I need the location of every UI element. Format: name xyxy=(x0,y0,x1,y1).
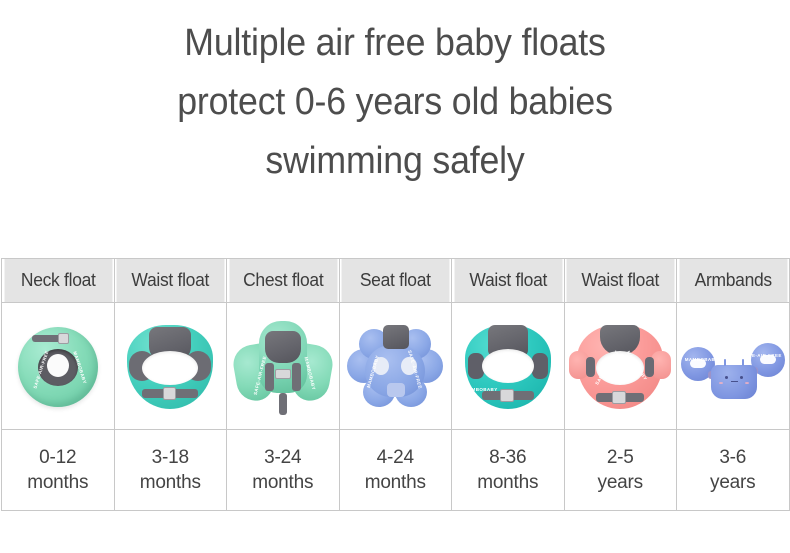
age-value: 8-36 xyxy=(452,445,564,470)
product-infographic: Multiple air free baby floats protect 0-… xyxy=(0,0,790,553)
product-image-waist-collar-float: MAMBOBABY xyxy=(456,307,560,425)
age-cell-waist-float-1: 3-18 months xyxy=(114,430,227,511)
age-unit: months xyxy=(2,470,114,495)
headline-line-1: Multiple air free baby floats xyxy=(24,14,767,73)
column-header-chest-float: Chest float xyxy=(228,259,337,303)
neck-ring-opening xyxy=(47,354,69,377)
chest-piece-ear-left xyxy=(724,359,726,366)
chest-piece-eye-left xyxy=(725,376,728,379)
collar-float-belt-buckle xyxy=(500,389,514,402)
age-value: 0-12 xyxy=(2,445,114,470)
column-header-waist-float-3: Waist float xyxy=(566,259,675,303)
column-header-waist-float-2: Waist float xyxy=(453,259,562,303)
age-cell-waist-float-2: 8-36 months xyxy=(452,430,565,511)
product-image-waist-collar-float-pink: SAFE-AIR-FREE MAMBOBABY xyxy=(568,307,672,425)
chest-float-buckle xyxy=(275,369,291,379)
armbands-chest-piece xyxy=(711,365,757,399)
brand-mark-right-band: SAFE-AIR-FREE xyxy=(742,353,782,358)
seat-float-front-panel xyxy=(387,383,405,397)
age-unit: months xyxy=(115,470,227,495)
chest-float-back-pad xyxy=(265,331,301,363)
age-value: 2-5 xyxy=(565,445,677,470)
product-image-seat-lobed-float: MAMBOBABY SAFE-AIR-FREE xyxy=(343,307,447,425)
chest-float-crotch-strap xyxy=(279,393,287,415)
age-value: 4-24 xyxy=(340,445,452,470)
headline-line-3: swimming safely xyxy=(24,132,767,191)
table-age-range-row: 0-12 months 3-18 months 3-24 months 4-24… xyxy=(2,430,790,511)
product-image-armbands-with-chest-piece: MAMBOBABY SAFE-AIR-FREE xyxy=(681,307,785,425)
age-unit: months xyxy=(340,470,452,495)
product-cell-seat-float: MAMBOBABY SAFE-AIR-FREE xyxy=(339,303,452,430)
collar-float-pink-belt-buckle xyxy=(612,391,626,404)
column-header-armbands: Armbands xyxy=(678,259,787,303)
product-cell-waist-float-2: MAMBOBABY xyxy=(452,303,565,430)
brand-mark-left-band: MAMBOBABY xyxy=(685,357,719,362)
product-comparison-table: Neck float Waist float Chest float Seat … xyxy=(1,258,790,511)
collar-float-pink-wing-right xyxy=(651,351,671,379)
seat-float-back-pad xyxy=(383,325,409,349)
age-cell-chest-float: 3-24 months xyxy=(227,430,340,511)
product-image-chest-wing-float: SAFE-AIR-FREE MAMBOBABY xyxy=(231,307,335,425)
product-cell-waist-float-1 xyxy=(114,303,227,430)
vest-waist-opening xyxy=(142,351,198,385)
product-cell-chest-float: SAFE-AIR-FREE MAMBOBABY xyxy=(227,303,340,430)
chest-piece-eye-right xyxy=(740,376,743,379)
age-unit: years xyxy=(677,470,789,495)
collar-float-side-wing-right xyxy=(532,353,548,379)
age-value: 3-24 xyxy=(227,445,339,470)
chest-piece-cheek-left xyxy=(719,382,723,384)
collar-float-opening xyxy=(482,349,534,383)
age-cell-waist-float-3: 2-5 years xyxy=(564,430,677,511)
age-unit: months xyxy=(452,470,564,495)
age-value: 3-18 xyxy=(115,445,227,470)
age-value: 3-6 xyxy=(677,445,789,470)
age-unit: months xyxy=(227,470,339,495)
collar-float-pink-strap-right xyxy=(645,357,654,377)
neck-ring-buckle xyxy=(58,333,69,344)
table-header-row: Neck float Waist float Chest float Seat … xyxy=(2,259,790,303)
page-title: Multiple air free baby floats protect 0-… xyxy=(0,14,790,191)
column-header-neck-float: Neck float xyxy=(3,259,112,303)
product-cell-waist-float-3: SAFE-AIR-FREE MAMBOBABY xyxy=(564,303,677,430)
age-unit: years xyxy=(565,470,677,495)
column-header-seat-float: Seat float xyxy=(341,259,450,303)
column-header-waist-float-1: Waist float xyxy=(116,259,225,303)
product-cell-armbands: MAMBOBABY SAFE-AIR-FREE xyxy=(677,303,790,430)
chest-float-harness-right xyxy=(292,363,301,391)
table-product-image-row: SAFE-AIR-FREE MAMBOBABY xyxy=(2,303,790,430)
chest-float-harness-left xyxy=(265,363,274,391)
product-cell-neck-float: SAFE-AIR-FREE MAMBOBABY xyxy=(2,303,115,430)
age-cell-seat-float: 4-24 months xyxy=(339,430,452,511)
age-cell-neck-float: 0-12 months xyxy=(2,430,115,511)
headline-line-2: protect 0-6 years old babies xyxy=(24,73,767,132)
chest-piece-cheek-right xyxy=(745,382,749,384)
chest-piece-ear-right xyxy=(742,359,744,366)
vest-belt-buckle xyxy=(163,387,176,400)
collar-float-pink-strap-left xyxy=(586,357,595,377)
product-image-neck-ring-float: SAFE-AIR-FREE MAMBOBABY xyxy=(6,307,110,425)
brand-mark-badge: MAMBOBABY xyxy=(464,387,498,392)
age-cell-armbands: 3-6 years xyxy=(677,430,790,511)
chest-piece-mouth xyxy=(731,381,738,385)
product-image-waist-vest-float xyxy=(118,307,222,425)
